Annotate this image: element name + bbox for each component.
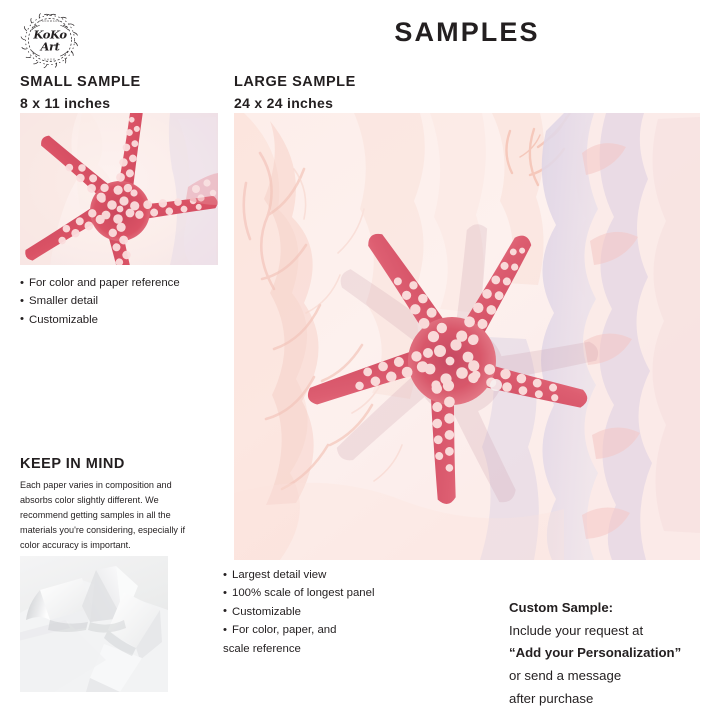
list-item: For color and paper reference [20,274,180,292]
list-item: For color, paper, and [223,621,374,639]
custom-sample-title: Custom Sample: [509,597,714,620]
list-item: Customizable [20,311,180,329]
large-sample-heading: LARGE SAMPLE [234,73,356,93]
wreath-logo-icon: KoKo Art SHOP HANDMADE [18,11,82,69]
paper-samples-photo [20,556,168,692]
list-item: 100% scale of longest panel [223,584,374,602]
large-sample-bullet-list: Largest detail view 100% scale of longes… [223,566,374,658]
large-sample-image [234,113,700,560]
svg-text:SHOP: SHOP [44,58,56,62]
koko-art-logo: KoKo Art SHOP HANDMADE [18,11,82,69]
large-sample-size: 24 x 24 inches [234,93,356,114]
white-paper-sheets-art [20,556,168,692]
small-sample-bullet-list: For color and paper reference Smaller de… [20,274,180,329]
samples-listing-page: KoKo Art SHOP HANDMADE SAMPLES SMALL SAM… [0,0,720,720]
list-item: Customizable [223,603,374,621]
small-sample-heading: SMALL SAMPLE [20,73,141,93]
custom-sample-block: Custom Sample: Include your request at “… [509,597,714,711]
watercolor-starfish-coral-scene-art [234,113,700,560]
small-sample-heading-block: SMALL SAMPLE 8 x 11 inches [20,73,141,114]
small-sample-image [20,113,218,265]
list-item: scale reference [223,640,374,658]
custom-sample-line-4: after purchase [509,688,714,711]
watercolor-starfish-closeup-art [20,113,218,265]
keep-in-mind-body: Each paper varies in composition and abs… [20,478,185,553]
keep-in-mind-block: KEEP IN MIND Each paper varies in compos… [20,456,195,553]
custom-sample-line-3: or send a message [509,665,714,688]
custom-sample-line-1: Include your request at [509,620,714,643]
page-title: SAMPLES [232,18,702,48]
list-item: Smaller detail [20,292,180,310]
keep-in-mind-title: KEEP IN MIND [20,456,195,472]
large-sample-heading-block: LARGE SAMPLE 24 x 24 inches [234,73,356,114]
list-item: Largest detail view [223,566,374,584]
svg-text:HANDMADE: HANDMADE [39,20,61,23]
custom-sample-personalization: “Add your Personalization” [509,642,714,665]
svg-text:Art: Art [39,40,60,54]
small-sample-size: 8 x 11 inches [20,93,141,114]
